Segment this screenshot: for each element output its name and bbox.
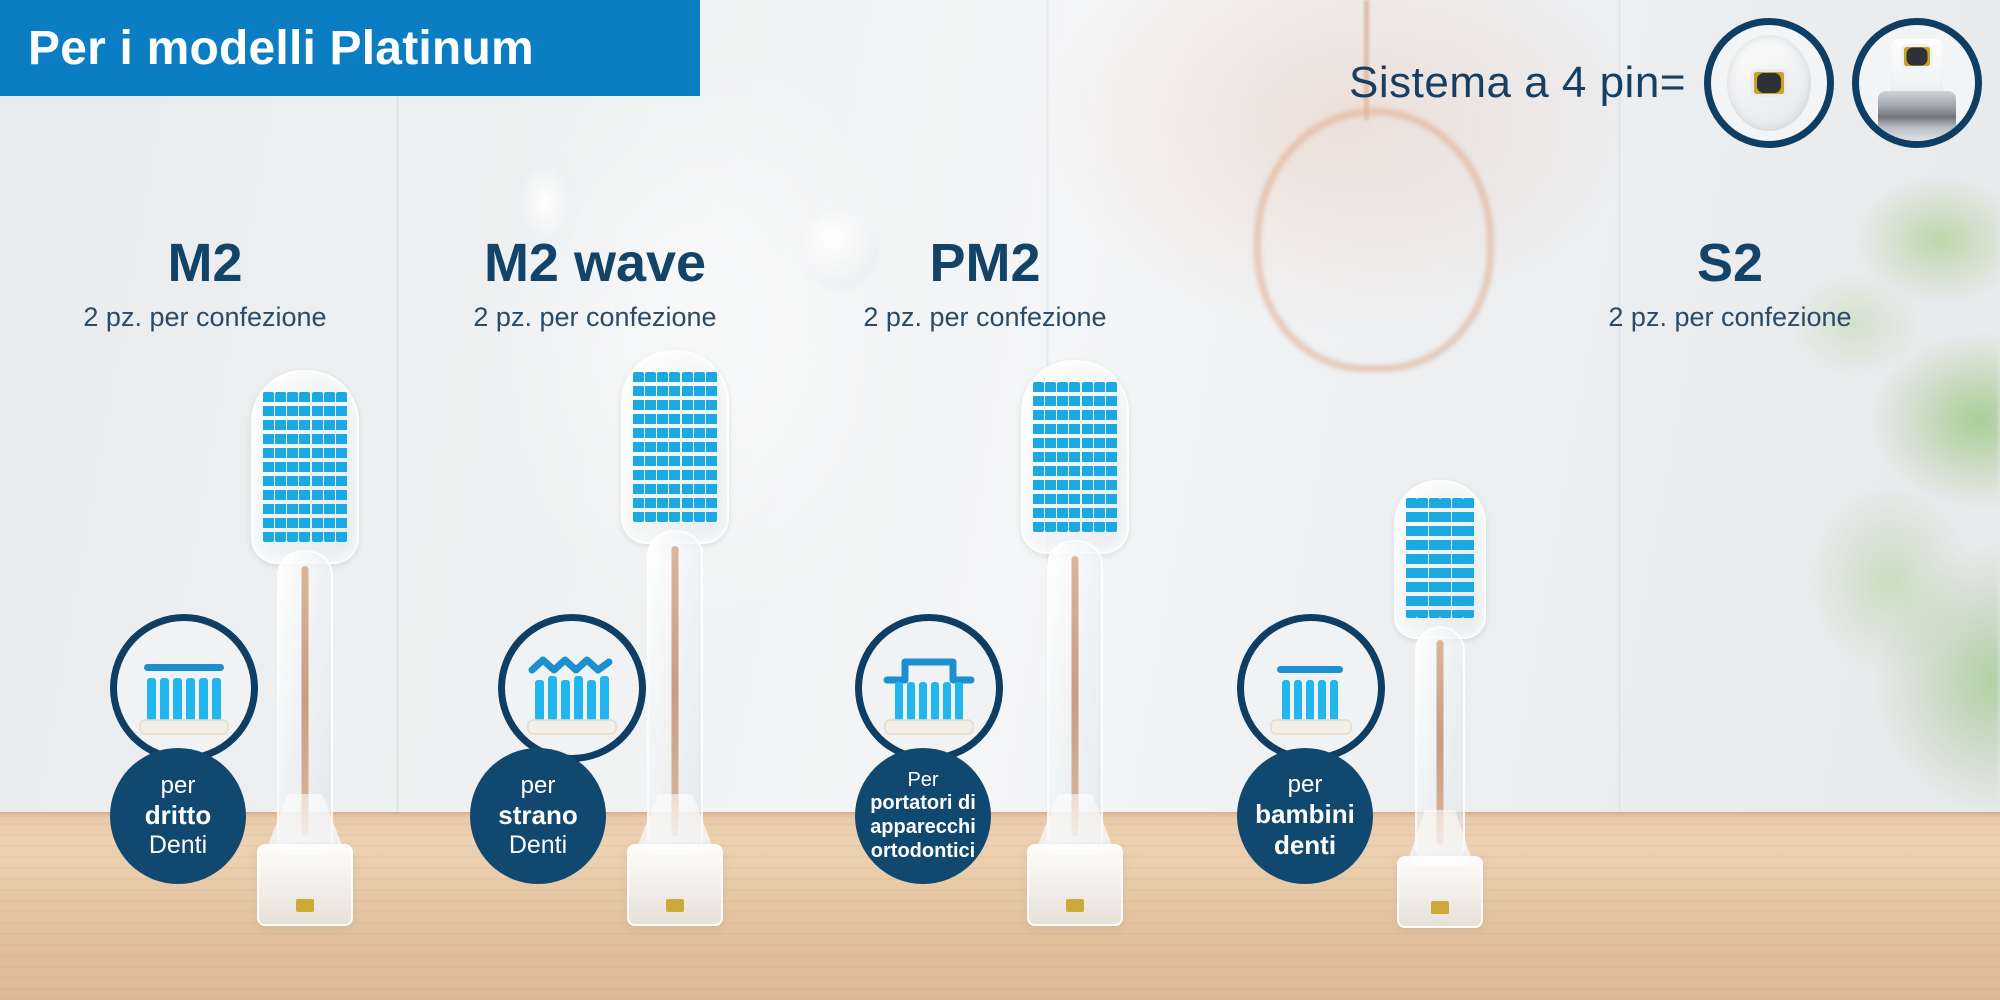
- product-title: M2: [0, 236, 425, 290]
- product-title: PM2: [765, 236, 1205, 290]
- badge-line-1: per: [161, 772, 196, 800]
- wave-bristles-icon: [498, 614, 646, 762]
- badge-line-2: bambini: [1255, 799, 1355, 830]
- badge-line-3: apparecchi: [870, 816, 976, 840]
- product-title: S2: [1530, 236, 1930, 290]
- pin-system-label: Sistema a 4 pin=: [1349, 58, 1686, 108]
- badge-line-2: portatori di: [870, 792, 976, 816]
- brush-head-s2: [1375, 480, 1505, 930]
- product-column-2: PM2 2 pz. per confezione: [765, 236, 1205, 331]
- header-banner: Per i modelli Platinum: [0, 0, 700, 96]
- product-subtitle: 2 pz. per confezione: [0, 304, 425, 331]
- badge-line-3: denti: [1274, 830, 1336, 861]
- product-subtitle: 2 pz. per confezione: [375, 304, 815, 331]
- infographic-stage: Per i modelli Platinum Sistema a 4 pin=: [0, 0, 2000, 1000]
- badge-line-3: Denti: [509, 831, 567, 861]
- badge-line-3: Denti: [149, 831, 207, 861]
- product-title: M2 wave: [375, 236, 815, 290]
- banner-title: Per i modelli Platinum: [0, 21, 534, 76]
- feature-badge-pm2: Per portatori di apparecchi ortodontici: [855, 748, 991, 884]
- pin-system-group: Sistema a 4 pin=: [1349, 18, 1982, 148]
- badge-line-1: per: [1288, 771, 1323, 799]
- product-column-3: S2 2 pz. per confezione: [1530, 236, 1930, 331]
- product-column-0: M2 2 pz. per confezione: [0, 236, 425, 331]
- brush-head-m2: [230, 370, 380, 930]
- badge-line-4: ortodontici: [871, 840, 975, 864]
- kids-bristles-icon: [1237, 614, 1385, 762]
- badge-line-1: Per: [907, 769, 938, 793]
- plug-body: [1878, 91, 1956, 141]
- product-subtitle: 2 pz. per confezione: [765, 304, 1205, 331]
- socket-photo-icon: [1704, 18, 1834, 148]
- feature-badge-s2: per bambini denti: [1237, 748, 1373, 884]
- feature-badge-m2-wave: per strano Denti: [470, 748, 606, 884]
- straight-bristles-icon: [110, 614, 258, 762]
- brush-head-pm2: [1000, 360, 1150, 930]
- badge-line-1: per: [521, 772, 556, 800]
- plug-photo-icon: [1852, 18, 1982, 148]
- badge-line-2: strano: [498, 800, 577, 831]
- product-column-1: M2 wave 2 pz. per confezione: [375, 236, 815, 331]
- product-subtitle: 2 pz. per confezione: [1530, 304, 1930, 331]
- badge-line-2: dritto: [145, 800, 211, 831]
- wall-tile-seam: [396, 0, 399, 812]
- orthodontic-bristles-icon: [855, 614, 1003, 762]
- feature-badge-m2: per dritto Denti: [110, 748, 246, 884]
- background-plant: [1640, 120, 2000, 810]
